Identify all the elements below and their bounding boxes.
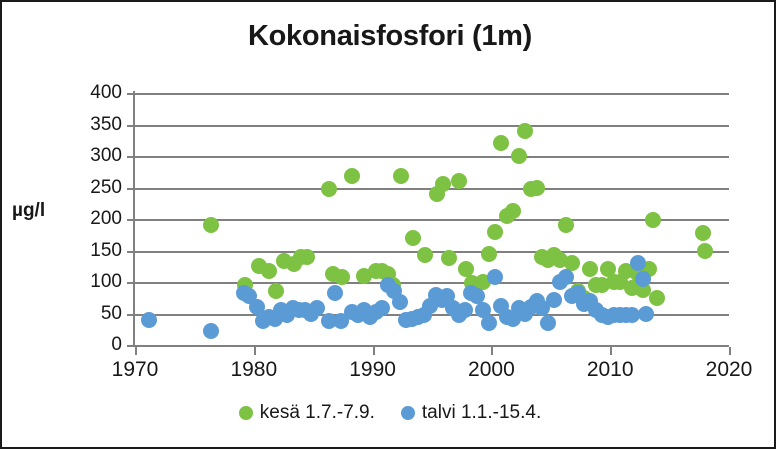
y-axis-label-400: 400 [62,83,122,102]
y-axis-label-wrap-150: 150 [57,241,122,261]
data-point [393,168,409,184]
data-point [344,168,360,184]
y-tick-250 [127,188,135,190]
y-axis-label-300: 300 [62,146,122,165]
data-point [405,230,421,246]
plot-area [135,93,729,345]
data-point [334,269,350,285]
data-point [645,212,661,228]
data-point [321,181,337,197]
data-point [309,300,325,316]
data-point [481,246,497,262]
data-point [546,292,562,308]
data-point [511,148,527,164]
x-axis-label-2020: 2020 [689,358,769,382]
data-point [435,176,451,192]
y-axis-label-250: 250 [62,178,122,197]
y-tick-50 [127,314,135,316]
chart-container: Kokonaisfosfori (1m) µg/l 05010015020025… [0,0,776,449]
data-point [697,243,713,259]
legend-label: talvi 1.1.-15.4. [422,402,541,424]
gridline-y-200 [135,219,729,221]
y-tick-100 [127,282,135,284]
y-tick-150 [127,251,135,253]
chart-title: Kokonaisfosfori (1m) [2,20,776,53]
data-point [457,302,473,318]
y-axis-label-wrap-250: 250 [57,178,122,198]
data-point [327,285,343,301]
data-point [451,173,467,189]
x-tick-1990 [373,347,375,355]
data-point [392,294,408,310]
data-point [558,269,574,285]
data-point [582,261,598,277]
data-point [481,315,497,331]
data-point [493,135,509,151]
legend-label: kesä 1.7.-7.9. [260,402,375,424]
y-tick-350 [127,125,135,127]
chart-legend: kesä 1.7.-7.9.talvi 1.1.-15.4. [2,402,776,424]
legend-marker-icon [239,406,253,420]
data-point [141,312,157,328]
y-axis-label-0: 0 [62,335,122,354]
x-axis-label-1970: 1970 [95,358,175,382]
data-point [630,255,646,271]
y-axis-label-200: 200 [62,209,122,228]
data-point [540,315,556,331]
y-axis-title: µg/l [12,200,60,222]
x-axis-label-1980: 1980 [214,358,294,382]
y-axis-label-50: 50 [62,304,122,323]
y-tick-400 [127,93,135,95]
y-tick-200 [127,219,135,221]
data-point [638,306,654,322]
x-tick-2010 [610,347,612,355]
y-axis-label-350: 350 [62,115,122,134]
x-tick-1970 [135,347,137,355]
data-point [268,283,284,299]
data-point [505,203,521,219]
data-point [487,224,503,240]
x-tick-2020 [729,347,731,355]
x-axis-label-2010: 2010 [570,358,650,382]
gridline-y-400 [135,93,729,95]
legend-item-kesa[interactable]: kesä 1.7.-7.9. [239,402,375,424]
x-tick-2000 [491,347,493,355]
data-point [529,180,545,196]
x-axis-label-1990: 1990 [333,358,413,382]
data-point [441,250,457,266]
data-point [417,247,433,263]
y-axis-label-wrap-200: 200 [57,209,122,229]
legend-item-talvi[interactable]: talvi 1.1.-15.4. [401,402,541,424]
y-axis-label-wrap-400: 400 [57,83,122,103]
data-point [203,217,219,233]
legend-marker-icon [401,406,415,420]
y-axis-label-wrap-50: 50 [57,304,122,324]
data-point [374,300,390,316]
data-point [649,290,665,306]
data-point [558,217,574,233]
data-point [517,123,533,139]
y-axis-label-wrap-300: 300 [57,146,122,166]
y-tick-0 [127,345,135,347]
data-point [299,249,315,265]
data-point [635,271,651,287]
data-point [203,323,219,339]
y-axis-label-wrap-0: 0 [57,335,122,355]
x-tick-1980 [254,347,256,355]
data-point [487,269,503,285]
y-tick-300 [127,156,135,158]
gridline-y-0 [135,345,729,347]
y-axis-label-100: 100 [62,272,122,291]
y-axis-label-wrap-100: 100 [57,272,122,292]
y-axis-label-150: 150 [62,241,122,260]
x-axis-label-2000: 2000 [451,358,531,382]
data-point [261,263,277,279]
gridline-y-350 [135,125,729,127]
y-axis-label-wrap-350: 350 [57,115,122,135]
gridline-y-300 [135,156,729,158]
data-point [695,225,711,241]
